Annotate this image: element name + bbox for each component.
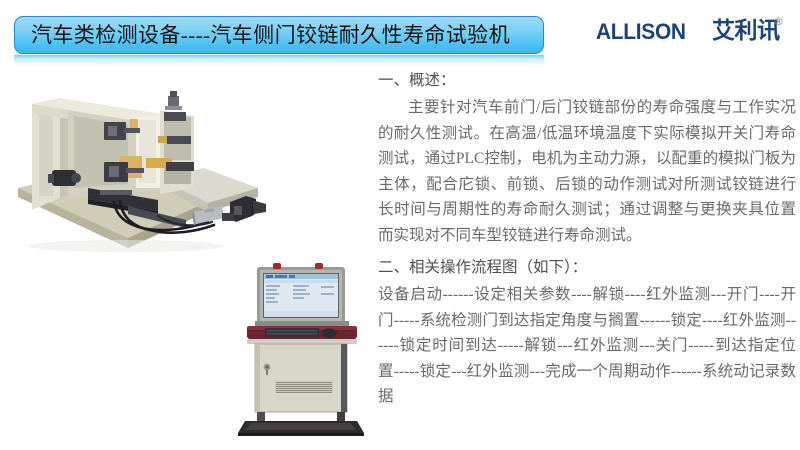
slide-title-banner: 汽车类检测设备----汽车侧门铰链耐久性寿命试验机 xyxy=(14,16,544,54)
title-banner-reflection xyxy=(14,55,544,69)
console-monitor xyxy=(257,267,345,325)
console-base-plinth xyxy=(238,421,364,436)
registered-trademark-icon: ® xyxy=(773,15,784,28)
machine-photo xyxy=(8,70,304,262)
description-column: 一、概述： 主要针对汽车前门/后门铰链部份的寿命强度与工作实况的耐久性测试。在高… xyxy=(378,68,796,410)
page-title: 汽车类检测设备----汽车侧门铰链耐久性寿命试验机 xyxy=(31,25,510,46)
process-flow-heading: 二、相关操作流程图（如下）： xyxy=(378,255,796,281)
console-cabinet xyxy=(255,344,347,412)
console-vent-grille xyxy=(275,381,333,393)
console-monitor-bracket xyxy=(255,321,349,326)
machine-right-fixture-frame xyxy=(160,110,194,194)
company-logo: ALLISON 艾利讯 ® xyxy=(596,15,788,51)
logo-wordmark-chinese: 艾利讯 xyxy=(712,20,780,43)
overview-paragraph: 主要针对汽车前门/后门铰链部份的寿命强度与工作实况的耐久性测试。在高温/低温环境… xyxy=(378,95,796,248)
process-flow-text: 设备启动------设定相关参数----解锁----红外监测---开门----开… xyxy=(378,282,796,410)
console-photo xyxy=(237,255,365,437)
machine-photo-illustration xyxy=(8,70,304,262)
overview-heading: 一、概述： xyxy=(378,68,796,94)
console-mouse xyxy=(321,329,337,338)
console-keyboard xyxy=(265,328,319,337)
slide-canvas: 汽车类检测设备----汽车侧门铰链耐久性寿命试验机 ALLISON 艾利讯 ® xyxy=(0,0,800,450)
console-photo-illustration xyxy=(237,255,365,437)
logo-wordmark-latin: ALLISON xyxy=(596,21,686,43)
